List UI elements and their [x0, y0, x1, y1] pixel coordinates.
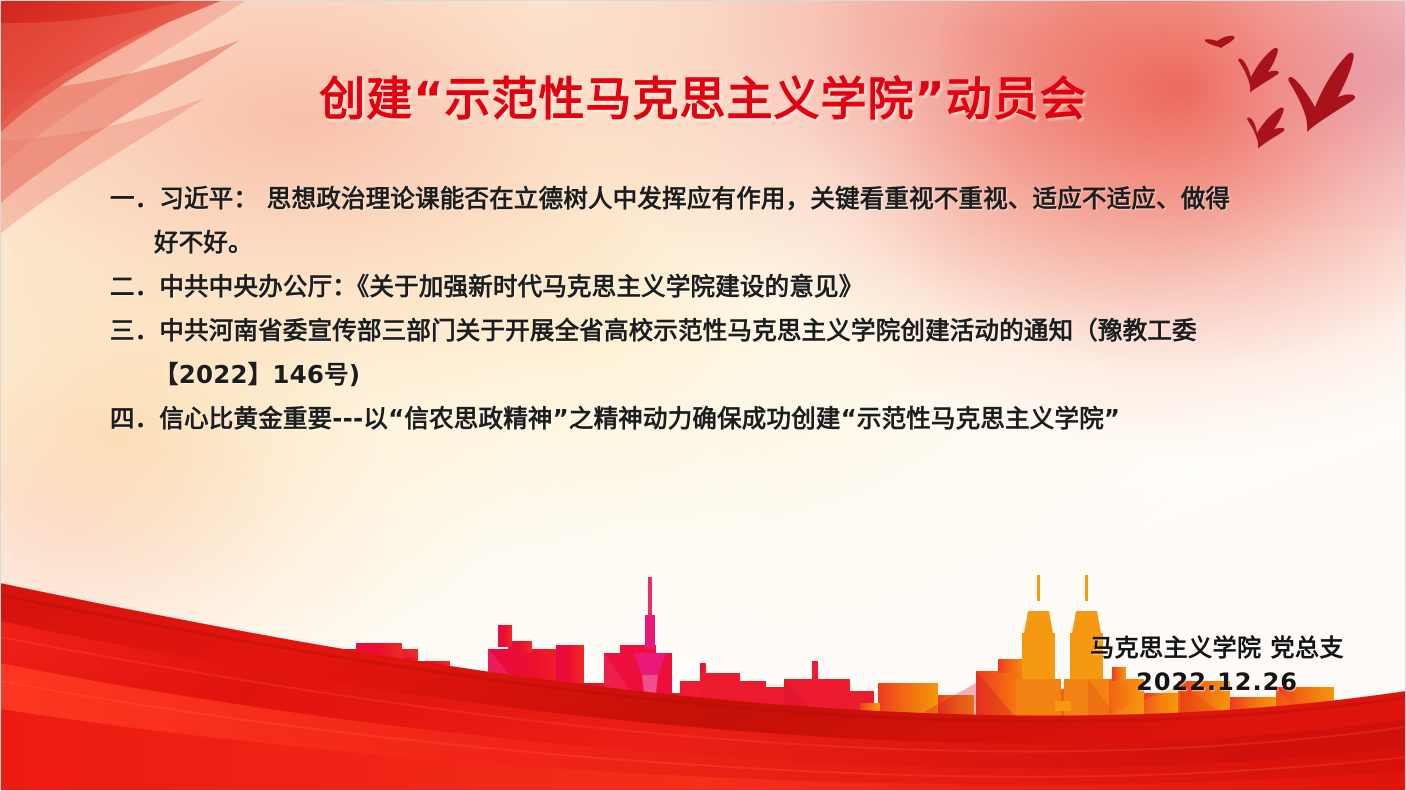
body-item-3-line-1: 三．中共河南省委宣传部三部门关于开展全省高校示范性马克思主义学院创建活动的通知（…	[110, 310, 1340, 352]
signature-block: 马克思主义学院 党总支 2022.12.26	[1090, 631, 1344, 699]
slide-title: 创建“示范性马克思主义学院”动员会	[0, 63, 1406, 129]
slide-body-list: 一．习近平： 思想政治理论课能否在立德树人中发挥应有作用，关键看重视不重视、适应…	[110, 178, 1340, 442]
body-item-1-line-2: 好不好。	[110, 222, 1340, 264]
body-item-3-line-2-text: 【2022】146号)	[154, 360, 360, 389]
body-item-2-line-1: 二．中共中央办公厅：《关于加强新时代马克思主义学院建设的意见》	[110, 266, 1340, 308]
body-item-3-line-2: 【2022】146号)	[110, 354, 1340, 396]
presentation-slide: 创建“示范性马克思主义学院”动员会 一．习近平： 思想政治理论课能否在立德树人中…	[0, 0, 1406, 791]
body-item-4-line-1: 四．信心比黄金重要---以“信农思政精神”之精神动力确保成功创建“示范性马克思主…	[110, 398, 1340, 440]
body-item-1-line-2-text: 好不好。	[154, 228, 253, 257]
signature-date: 2022.12.26	[1090, 665, 1344, 699]
signature-organization: 马克思主义学院 党总支	[1090, 631, 1344, 665]
body-item-1-line-1: 一．习近平： 思想政治理论课能否在立德树人中发挥应有作用，关键看重视不重视、适应…	[110, 178, 1340, 220]
